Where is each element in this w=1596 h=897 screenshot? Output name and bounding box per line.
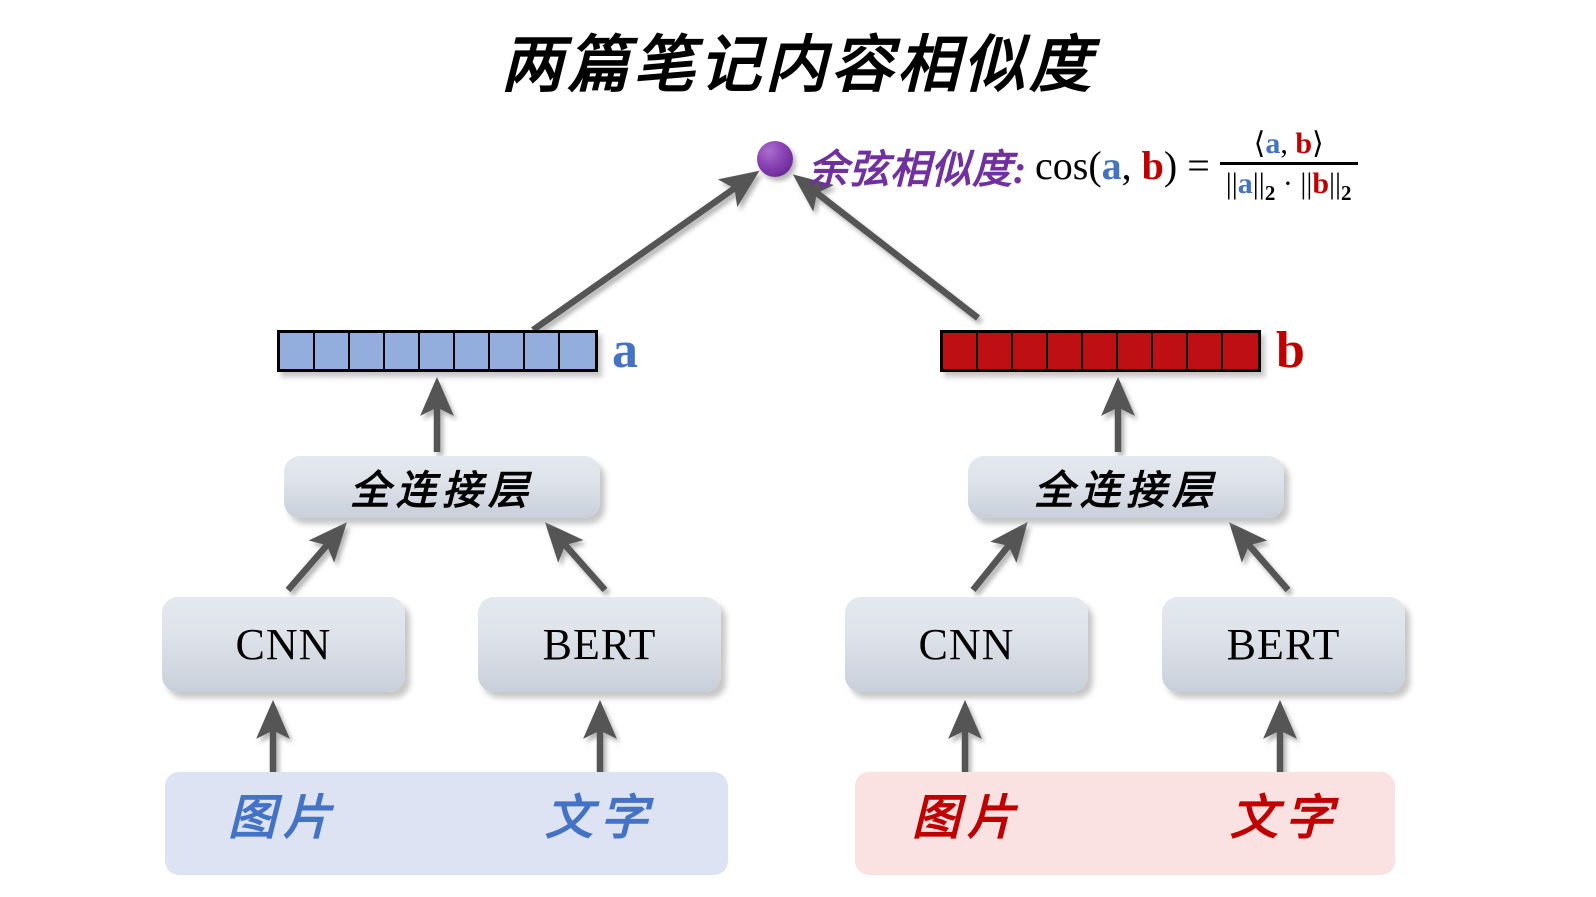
vector-cell: [1048, 333, 1083, 369]
vector-cell: [525, 333, 560, 369]
vector-cell: [1153, 333, 1188, 369]
arrow-bert-right-to-fc-right: [1235, 529, 1288, 590]
formula-left-side: cos(a, b) =: [1035, 142, 1210, 189]
vector-cell: [1118, 333, 1153, 369]
formula-fraction: ⟨a, b⟩ ||a||2 · ||b||2: [1220, 128, 1358, 204]
formula-denominator: ||a||2 · ||b||2: [1220, 165, 1358, 204]
arrow-bert-left-to-fc-left: [551, 529, 605, 590]
vector-cell: [1013, 333, 1048, 369]
vector-cell: [943, 333, 978, 369]
cosine-similarity-label: 余弦相似度:: [808, 137, 1027, 195]
fc-layer-left: 全连接层: [284, 456, 600, 518]
arrow-a-to-similarity: [533, 176, 752, 330]
vector-cell: [1188, 333, 1223, 369]
vector-cell: [490, 333, 525, 369]
source-text-right: 文字: [1230, 795, 1340, 843]
vector-cell: [1223, 333, 1258, 369]
vector-cell: [385, 333, 420, 369]
cosine-similarity-formula: cos(a, b) = ⟨a, b⟩ ||a||2 · ||b||2: [1035, 128, 1358, 204]
vector-cell: [978, 333, 1013, 369]
encoder-bert-left: BERT: [478, 597, 721, 692]
arrow-cnn-left-to-fc-left: [288, 529, 341, 590]
vector-cell: [560, 333, 595, 369]
arrow-cnn-right-to-fc-right: [973, 529, 1022, 590]
vector-cell: [315, 333, 350, 369]
vector-cell: [1083, 333, 1118, 369]
source-image-right: 图片: [912, 795, 1022, 843]
vector-b-label: b: [1276, 325, 1305, 377]
encoder-bert-right: BERT: [1162, 597, 1405, 692]
fc-layer-right: 全连接层: [968, 456, 1284, 518]
vector-cell: [280, 333, 315, 369]
encoder-cnn-left: CNN: [162, 597, 405, 692]
vector-b-cells: [940, 330, 1261, 372]
diagram-canvas: 两篇笔记内容相似度: [0, 0, 1596, 897]
source-image-left: 图片: [228, 795, 338, 843]
page-title: 两篇笔记内容相似度: [0, 14, 1596, 104]
vector-a-cells: [277, 330, 598, 372]
vector-cell: [455, 333, 490, 369]
vector-cell: [350, 333, 385, 369]
encoder-cnn-right: CNN: [845, 597, 1088, 692]
source-text-left: 文字: [545, 795, 655, 843]
arrow-b-to-similarity: [800, 180, 978, 318]
vector-cell: [420, 333, 455, 369]
vector-a-label: a: [612, 325, 638, 377]
formula-numerator: ⟨a, b⟩: [1248, 128, 1330, 162]
formula-vector-b: b: [1142, 143, 1164, 188]
formula-vector-a: a: [1102, 143, 1122, 188]
purple-sphere-icon: [757, 141, 793, 177]
